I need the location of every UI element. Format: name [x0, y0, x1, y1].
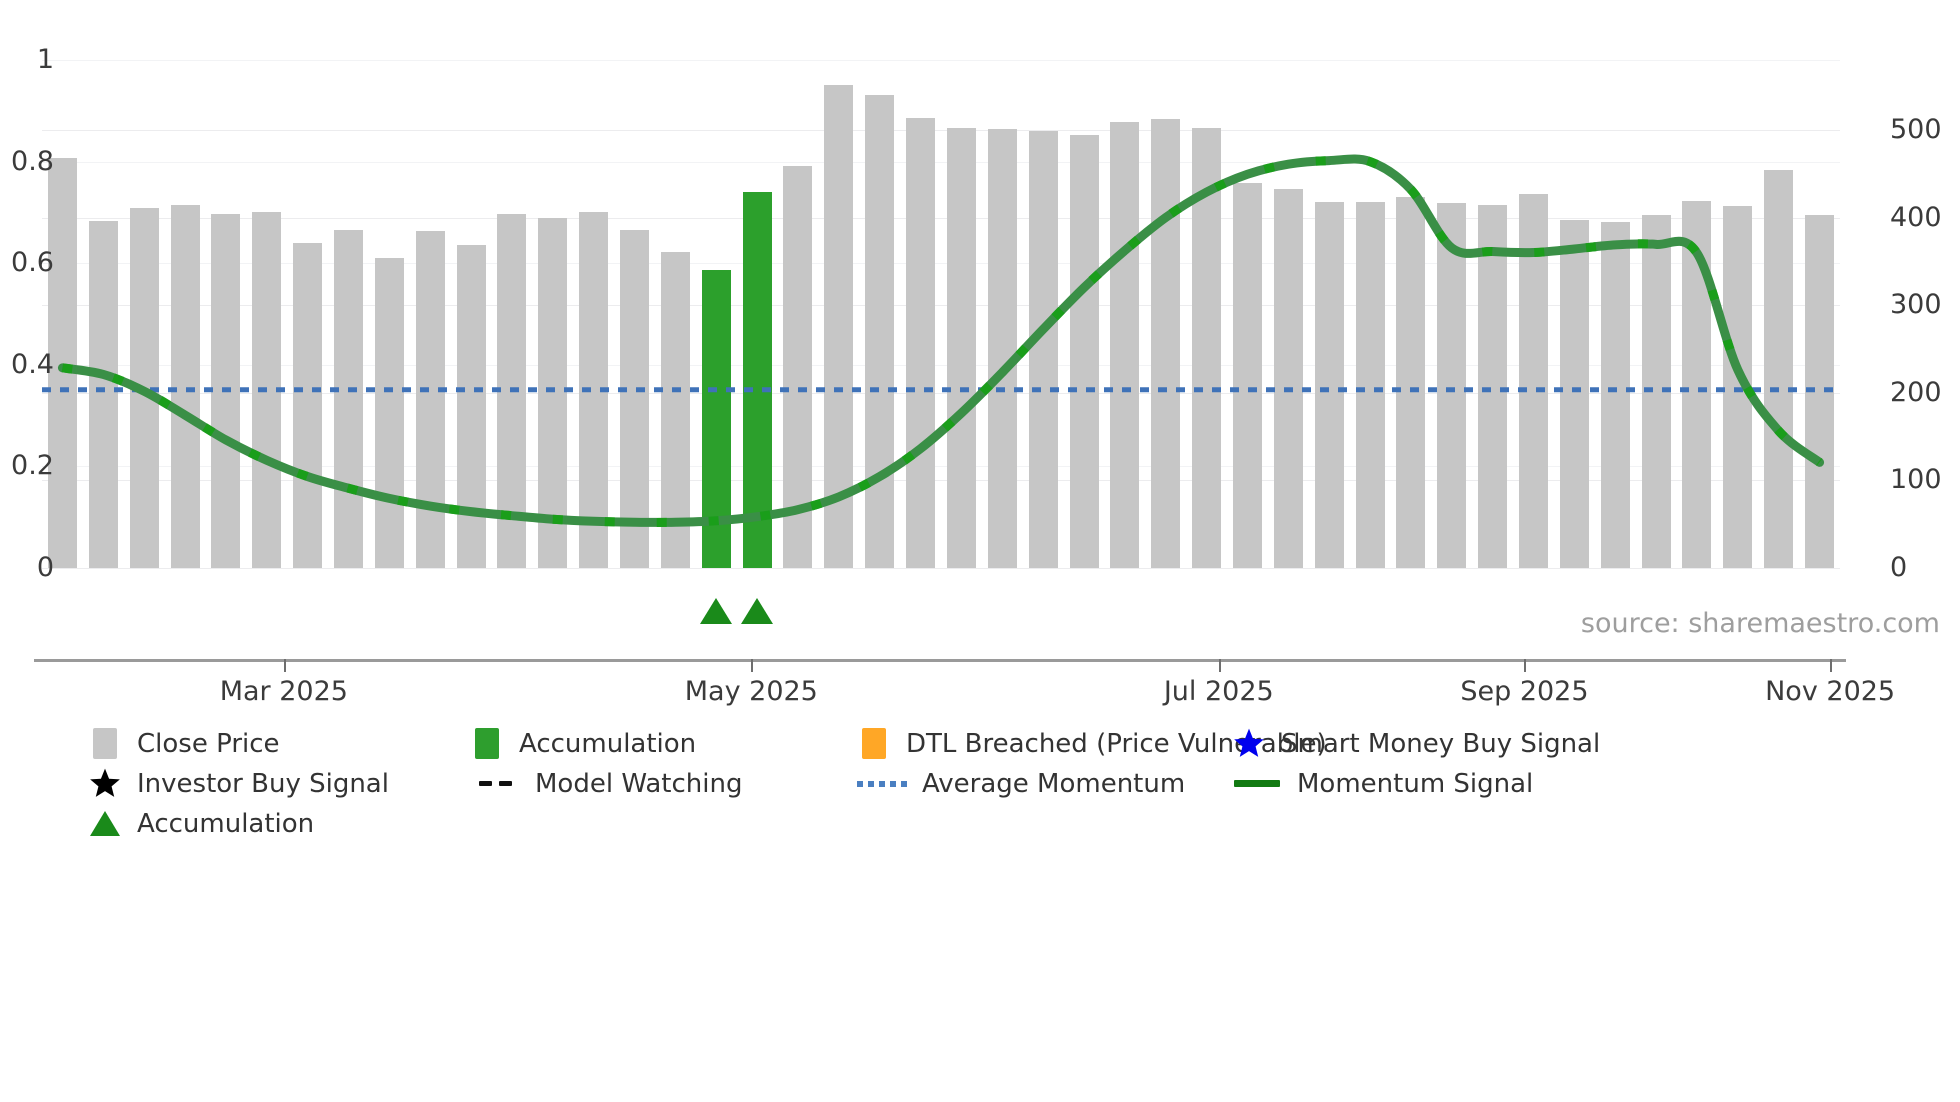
dotted-line-icon: [857, 768, 907, 799]
y-axis-left-tick-label: 0.4: [0, 351, 54, 378]
y-axis-right-tick-label: 500: [1890, 116, 1960, 143]
legend-row: Close PriceAccumulationDTL Breached (Pri…: [0, 728, 1960, 759]
legend-row: Accumulation: [0, 808, 1960, 839]
legend-item-label: Smart Money Buy Signal: [1281, 731, 1600, 757]
legend-item-label: Model Watching: [535, 771, 742, 797]
source-note: source: sharemaestro.com: [1581, 608, 1940, 639]
momentum-signal-dash-overlay: [62, 159, 1819, 522]
y-axis-left-tick-label: 0.6: [0, 249, 54, 276]
x-axis-line: [34, 659, 1846, 662]
line-series-layer: [42, 60, 1840, 568]
gridline-right: [42, 568, 1840, 569]
legend-item[interactable]: Momentum Signal: [1232, 768, 1533, 799]
y-axis-left-tick-label: 0: [0, 554, 54, 581]
y-axis-left-tick-label: 0.8: [0, 148, 54, 175]
x-axis-tick-label: Jul 2025: [1164, 676, 1274, 707]
momentum-signal-line: [62, 159, 1819, 522]
triangle-up-icon: [88, 808, 122, 839]
legend-item[interactable]: Smart Money Buy Signal: [1232, 728, 1600, 759]
legend-swatch-icon: [470, 728, 504, 759]
y-axis-right-tick-label: 200: [1890, 379, 1960, 406]
x-axis-tick-label: May 2025: [685, 676, 818, 707]
accumulation-marker-icon: [741, 598, 773, 624]
x-axis-tickmark: [1219, 659, 1221, 672]
x-axis-tick-label: Nov 2025: [1765, 676, 1895, 707]
legend-swatch-icon: [88, 728, 122, 759]
legend-item[interactable]: Investor Buy Signal: [88, 768, 389, 799]
accumulation-marker-icon: [700, 598, 732, 624]
solid-line-icon: [1232, 768, 1282, 799]
dashed-line-icon: [470, 768, 520, 799]
x-axis-tickmark: [751, 659, 753, 672]
x-axis-tick-label: Sep 2025: [1460, 676, 1588, 707]
star-icon: [88, 768, 122, 799]
legend-item[interactable]: Model Watching: [470, 768, 742, 799]
legend-item[interactable]: Accumulation: [470, 728, 696, 759]
legend-item-label: Close Price: [137, 731, 280, 757]
x-axis-tickmark: [1524, 659, 1526, 672]
y-axis-right-tick-label: 0: [1890, 554, 1960, 581]
chart-legend: Close PriceAccumulationDTL Breached (Pri…: [0, 728, 1960, 848]
legend-item[interactable]: Average Momentum: [857, 768, 1185, 799]
legend-item-label: Investor Buy Signal: [137, 771, 389, 797]
x-axis-tick-label: Mar 2025: [220, 676, 348, 707]
legend-item-label: Momentum Signal: [1297, 771, 1533, 797]
legend-item[interactable]: Close Price: [88, 728, 280, 759]
y-axis-right-tick-label: 400: [1890, 204, 1960, 231]
legend-item-label: Average Momentum: [922, 771, 1185, 797]
x-axis-tickmark: [284, 659, 286, 672]
legend-row: Investor Buy SignalModel WatchingAverage…: [0, 768, 1960, 799]
star-icon: [1232, 728, 1266, 759]
chart-plot-area: 00.20.40.60.81 0100200300400500: [42, 60, 1840, 568]
x-axis-tickmark: [1830, 659, 1832, 672]
legend-swatch-icon: [857, 728, 891, 759]
y-axis-left-tick-label: 1: [0, 46, 54, 73]
legend-item-label: Accumulation: [137, 811, 314, 837]
y-axis-right-tick-label: 100: [1890, 466, 1960, 493]
y-axis-left-tick-label: 0.2: [0, 452, 54, 479]
y-axis-right-tick-label: 300: [1890, 291, 1960, 318]
legend-item[interactable]: Accumulation: [88, 808, 314, 839]
legend-item-label: Accumulation: [519, 731, 696, 757]
